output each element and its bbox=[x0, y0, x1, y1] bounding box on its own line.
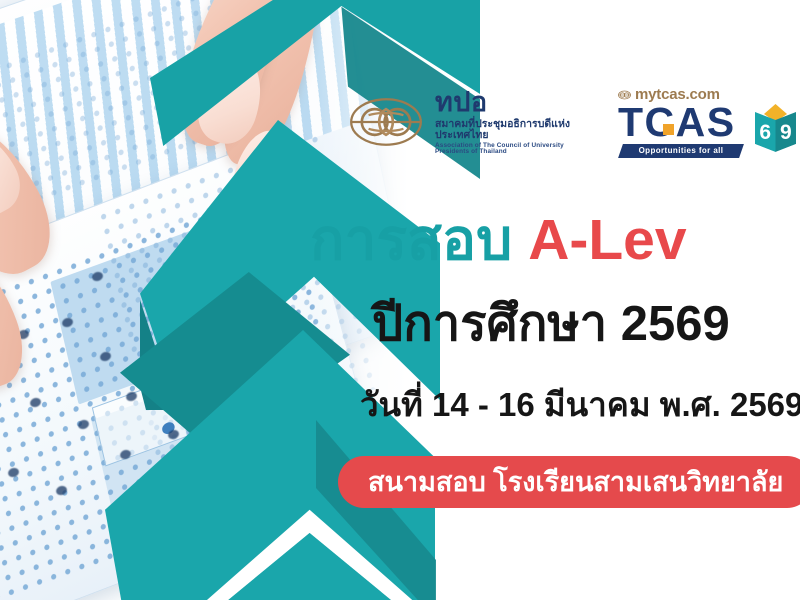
tcas-logo: mytcas.com TCAS Opportunities for all bbox=[618, 86, 800, 158]
book-digit-9: 9 bbox=[780, 122, 792, 143]
cupt-name-th: สมาคมที่ประชุมอธิการบดีแห่งประเทศไทย bbox=[435, 119, 574, 141]
tcas-wordmark: TCAS bbox=[618, 104, 736, 142]
cupt-logo: ทปอ สมาคมที่ประชุมอธิการบดีแห่งประเทศไทย… bbox=[348, 88, 574, 156]
tcas-letter-c: C bbox=[645, 104, 676, 142]
exam-date-line: วันที่ 14 - 16 มีนาคม พ.ศ. 2569 bbox=[360, 388, 800, 421]
tcas-letters-as: AS bbox=[676, 104, 736, 142]
venue-badge: สนามสอบ โรงเรียนสามเสนวิทยาลัย bbox=[338, 456, 800, 508]
logo-row: ทปอ สมาคมที่ประชุมอธิการบดีแห่งประเทศไทย… bbox=[348, 86, 800, 158]
headline-english: A-Lev bbox=[528, 208, 686, 272]
exam-announcement-poster: ทปอ สมาคมที่ประชุมอธิการบดีแห่งประเทศไทย… bbox=[0, 0, 800, 600]
tcas-book-icon: 6 9 bbox=[751, 102, 800, 155]
tcas-left-block: mytcas.com TCAS Opportunities for all bbox=[618, 86, 744, 158]
cupt-abbr-th: ทปอ bbox=[435, 88, 574, 116]
cupt-text-block: ทปอ สมาคมที่ประชุมอธิการบดีแห่งประเทศไทย… bbox=[435, 88, 574, 156]
tcas-year-digits: 6 9 bbox=[751, 122, 800, 143]
cupt-emblem-icon bbox=[348, 94, 424, 150]
venue-label: สนามสอบ โรงเรียนสามเสนวิทยาลัย bbox=[368, 469, 783, 496]
page-title: การสอบ A-Lev bbox=[310, 212, 687, 269]
academic-year-line: ปีการศึกษา 2569 bbox=[372, 300, 730, 349]
headline-thai: การสอบ bbox=[310, 208, 528, 272]
cupt-name-en: Association of The Council of University… bbox=[435, 143, 574, 156]
mytcas-emblem-icon bbox=[618, 90, 631, 100]
tcas-tagline-banner: Opportunities for all bbox=[618, 144, 744, 159]
book-digit-6: 6 bbox=[759, 122, 771, 143]
tcas-letter-t: T bbox=[618, 104, 645, 142]
